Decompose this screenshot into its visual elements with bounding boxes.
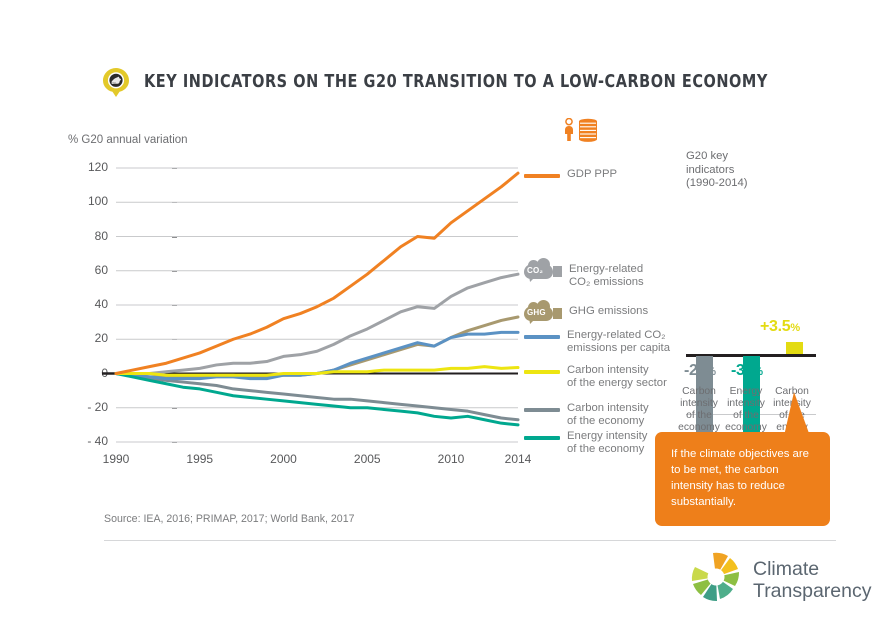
key-indicators-panel: G20 key indicators (1990-2014) -27%Carbo… [686, 150, 816, 400]
legend-swatch [524, 174, 560, 178]
person-coins-icon [562, 118, 606, 140]
callout-box: If the climate objectives are to be met,… [655, 432, 830, 526]
callout-text: If the climate objectives are to be met,… [671, 446, 814, 510]
panel-caption-line: Carbon [682, 386, 716, 397]
callout-tail-icon [784, 392, 810, 436]
legend-label-line1: GHG emissions [569, 305, 648, 317]
panel-title-line3: (1990-2014) [686, 177, 748, 189]
legend-item-energy-co2[interactable]: CO₂Energy-relatedCO₂ emissions [524, 263, 644, 290]
x-tick-label: 1995 [170, 452, 230, 466]
y-tick-label: - 40 [62, 434, 108, 448]
legend-item-energy-intensity-economy[interactable]: Energy intensityof the economy [524, 430, 647, 457]
chart-legend: GDP PPPCO₂Energy-relatedCO₂ emissionsGHG… [524, 140, 674, 450]
legend-item-carbon-intensity-energy[interactable]: Carbon intensityof the energy sector [524, 364, 667, 391]
panel-caption-line: of the [686, 410, 712, 421]
y-axis-caption: % G20 annual variation [68, 134, 188, 146]
legend-label: Carbon intensityof the energy sector [567, 364, 667, 391]
panel-value-number: -27 [684, 362, 706, 379]
y-tick-label: - 20 [62, 400, 108, 414]
panel-title: G20 key indicators (1990-2014) [686, 150, 748, 191]
panel-value-percent: % [706, 366, 715, 378]
panel-value-number: +3.5 [760, 318, 790, 335]
legend-label-line2: CO₂ emissions [569, 276, 644, 288]
panel-caption-line: intensity [680, 398, 718, 409]
legend-item-carbon-intensity-economy[interactable]: Carbon intensityof the economy [524, 402, 649, 429]
chart-series-carbon-intensity-of-the-economy [116, 374, 518, 420]
legend-label: GHG emissions [569, 305, 648, 318]
panel-caption-energy-intensity-economy: Energyintensityof theeconomy [724, 386, 768, 434]
panel-value-percent: % [790, 322, 799, 334]
legend-swatch [524, 335, 560, 339]
legend-label-line1: Energy-related CO₂ [567, 329, 666, 341]
legend-label: Energy-related CO₂emissions per capita [567, 329, 670, 356]
legend-swatch [524, 408, 560, 412]
x-tick-label: 2000 [254, 452, 314, 466]
legend-item-gdp-ppp[interactable]: GDP PPP [524, 168, 617, 181]
y-tick-label: 60 [62, 263, 108, 277]
panel-bar-carbon-intensity-energy-sector [786, 342, 803, 354]
y-axis-ticks: 120100806040200- 20- 40 [62, 168, 108, 442]
climate-transparency-pinwheel-logo [690, 551, 742, 608]
legend-item-ghg[interactable]: GHGGHG emissions [524, 305, 648, 323]
source-note: Source: IEA, 2016; PRIMAP, 2017; World B… [104, 513, 354, 525]
panel-caption-carbon-intensity-economy: Carbonintensityof theeconomy [677, 386, 721, 434]
chart-series-gdp-ppp [116, 173, 518, 373]
legend-label-line2: of the economy [567, 443, 644, 455]
legend-label-line2: emissions per capita [567, 342, 670, 354]
x-tick-label: 2010 [421, 452, 481, 466]
legend-label-line1: Energy-related [569, 263, 643, 275]
y-tick-label: 20 [62, 331, 108, 345]
legend-label: Energy-relatedCO₂ emissions [569, 263, 644, 290]
legend-label-line1: Carbon intensity [567, 402, 649, 414]
legend-label-line1: Energy intensity [567, 430, 647, 442]
cloud-icon-label: CO₂ [527, 266, 543, 275]
y-tick-label: 0 [62, 366, 108, 380]
panel-title-line1: G20 key [686, 150, 728, 162]
panel-caption-line: Energy [730, 386, 763, 397]
chart-plot-area [116, 168, 518, 442]
ghg-cloud-icon: GHG [524, 304, 562, 323]
brand-logo: Climate Transparency [690, 551, 872, 608]
panel-value-number: -30 [731, 362, 753, 379]
cloud-icon-label: GHG [527, 308, 546, 317]
panel-caption-line: of the [733, 410, 759, 421]
brand-name-line1: Climate [753, 558, 819, 580]
y-tick-label: 120 [62, 160, 108, 174]
legend-label-line2: of the economy [567, 415, 644, 427]
x-tick-label: 2005 [337, 452, 397, 466]
legend-label: Carbon intensityof the economy [567, 402, 649, 429]
brand-logo-text: Climate Transparency [753, 558, 872, 602]
legend-label: GDP PPP [567, 168, 617, 181]
panel-title-line2: indicators [686, 164, 734, 176]
co2-cloud-icon: CO₂ [524, 262, 562, 281]
legend-label-line2: of the energy sector [567, 377, 667, 389]
panel-caption-line: intensity [727, 398, 765, 409]
legend-swatch [524, 370, 560, 374]
panel-value-carbon-intensity-economy: -27% [684, 362, 716, 380]
pin-badge-icon [100, 66, 132, 98]
legend-label: Energy intensityof the economy [567, 430, 647, 457]
page-title: KEY INDICATORS ON THE G20 TRANSITION TO … [144, 72, 768, 92]
legend-swatch [524, 436, 560, 440]
y-tick-label: 100 [62, 194, 108, 208]
brand-name-line2: Transparency [753, 580, 872, 602]
y-tick-label: 40 [62, 297, 108, 311]
page-title-row: KEY INDICATORS ON THE G20 TRANSITION TO … [100, 66, 822, 98]
legend-item-energy-co2-per-capita[interactable]: Energy-related CO₂emissions per capita [524, 329, 670, 356]
legend-label-line1: Carbon intensity [567, 364, 649, 376]
panel-value-carbon-intensity-energy-sector: +3.5% [760, 318, 800, 336]
panel-value-energy-intensity-economy: -30% [731, 362, 763, 380]
infographic-root: KEY INDICATORS ON THE G20 TRANSITION TO … [0, 0, 890, 626]
footer-divider [104, 540, 836, 541]
x-tick-label: 1990 [86, 452, 146, 466]
y-tick-label: 80 [62, 229, 108, 243]
panel-value-percent: % [753, 366, 762, 378]
